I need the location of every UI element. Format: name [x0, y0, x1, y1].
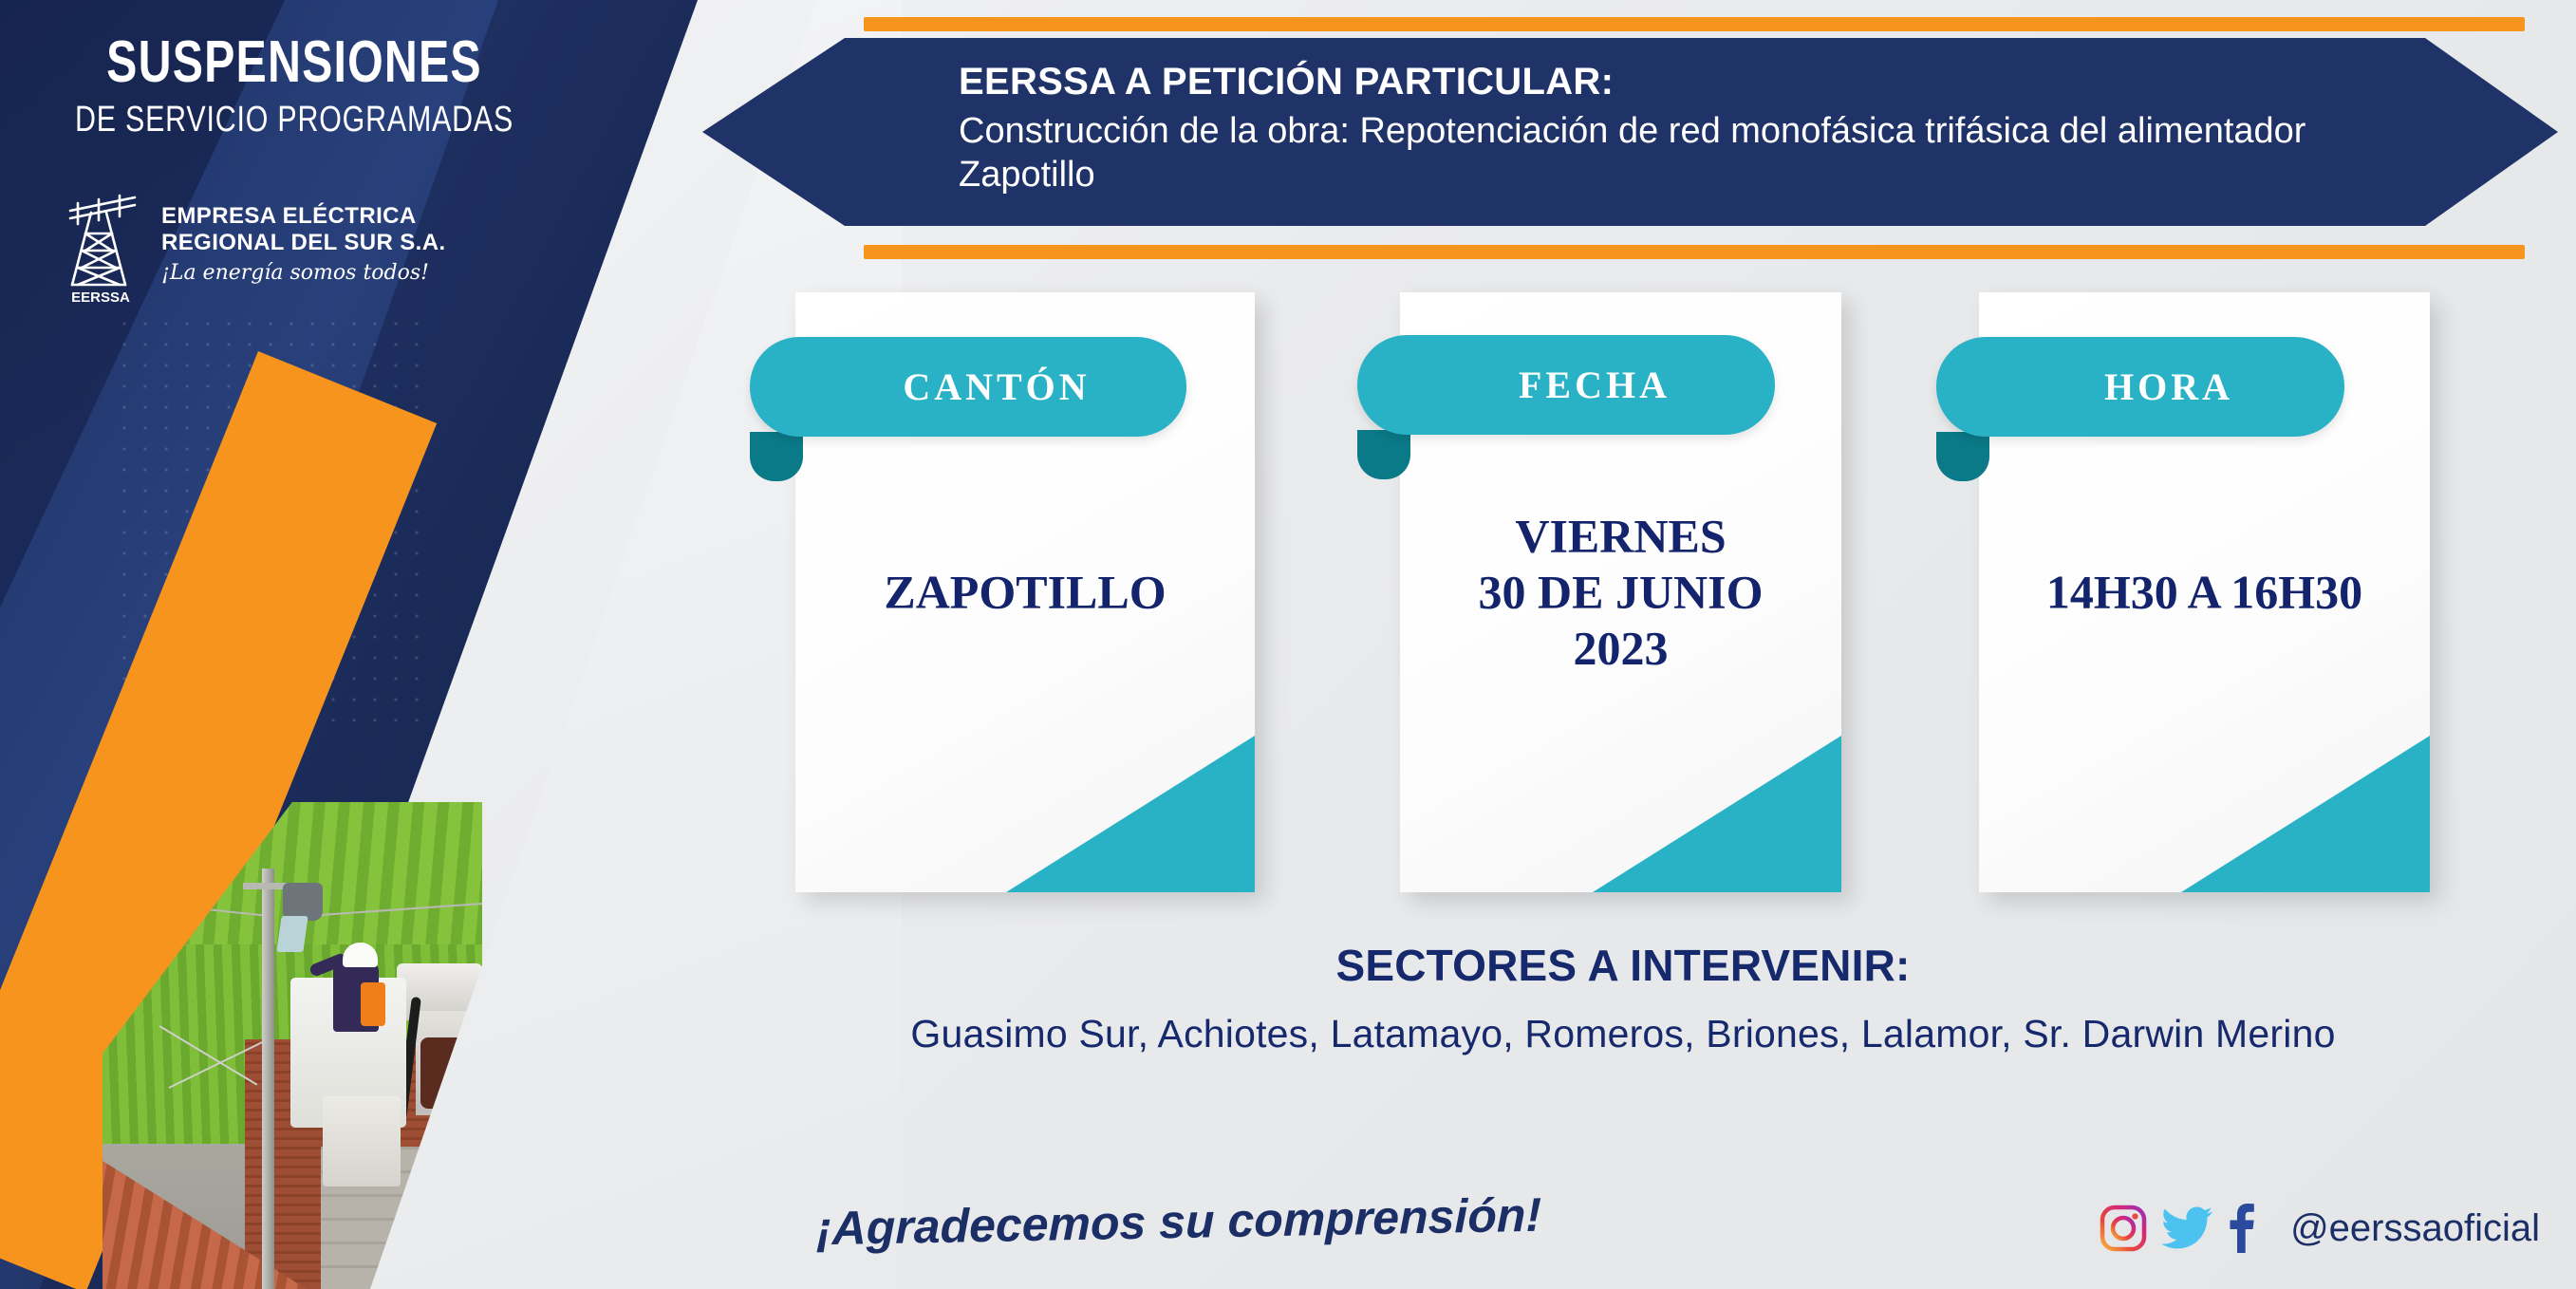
social-handle[interactable]: @eerssaoficial: [2290, 1207, 2540, 1250]
pill-label-fecha: FECHA: [1357, 335, 1775, 435]
sectors-title: SECTORES A INTERVENIR:: [721, 940, 2525, 991]
facebook-icon[interactable]: [2228, 1204, 2266, 1253]
poster-canvas: SUSPENSIONES DE SERVICIO PROGRAMADAS: [0, 0, 2576, 1289]
pill-shadow-hora: [1936, 432, 1989, 481]
pill-canton-text: CANTÓN: [846, 364, 1090, 409]
pill-label-canton: CANTÓN: [750, 337, 1186, 437]
card-canton-value: ZAPOTILLO: [795, 565, 1255, 621]
pill-label-hora: HORA: [1936, 337, 2344, 437]
pill-hora-text: HORA: [2047, 364, 2233, 409]
social-links: @eerssaoficial: [2099, 1204, 2540, 1253]
sectors-list: Guasimo Sur, Achiotes, Latamayo, Romeros…: [721, 1012, 2525, 1056]
pill-shadow-canton: [750, 432, 803, 481]
card-fecha-value: VIERNES 30 DE JUNIO 2023: [1400, 509, 1841, 677]
sectors-section: SECTORES A INTERVENIR: Guasimo Sur, Achi…: [721, 940, 2525, 1056]
pill-fecha-text: FECHA: [1462, 363, 1671, 407]
pill-shadow-fecha: [1357, 430, 1410, 479]
card-hora-value: 14H30 A 16H30: [1979, 565, 2430, 621]
instagram-icon[interactable]: [2099, 1204, 2148, 1253]
twitter-icon[interactable]: [2161, 1204, 2214, 1253]
info-cards: ZAPOTILLO VIERNES 30 DE JUNIO 2023 14H30…: [0, 0, 2576, 1289]
